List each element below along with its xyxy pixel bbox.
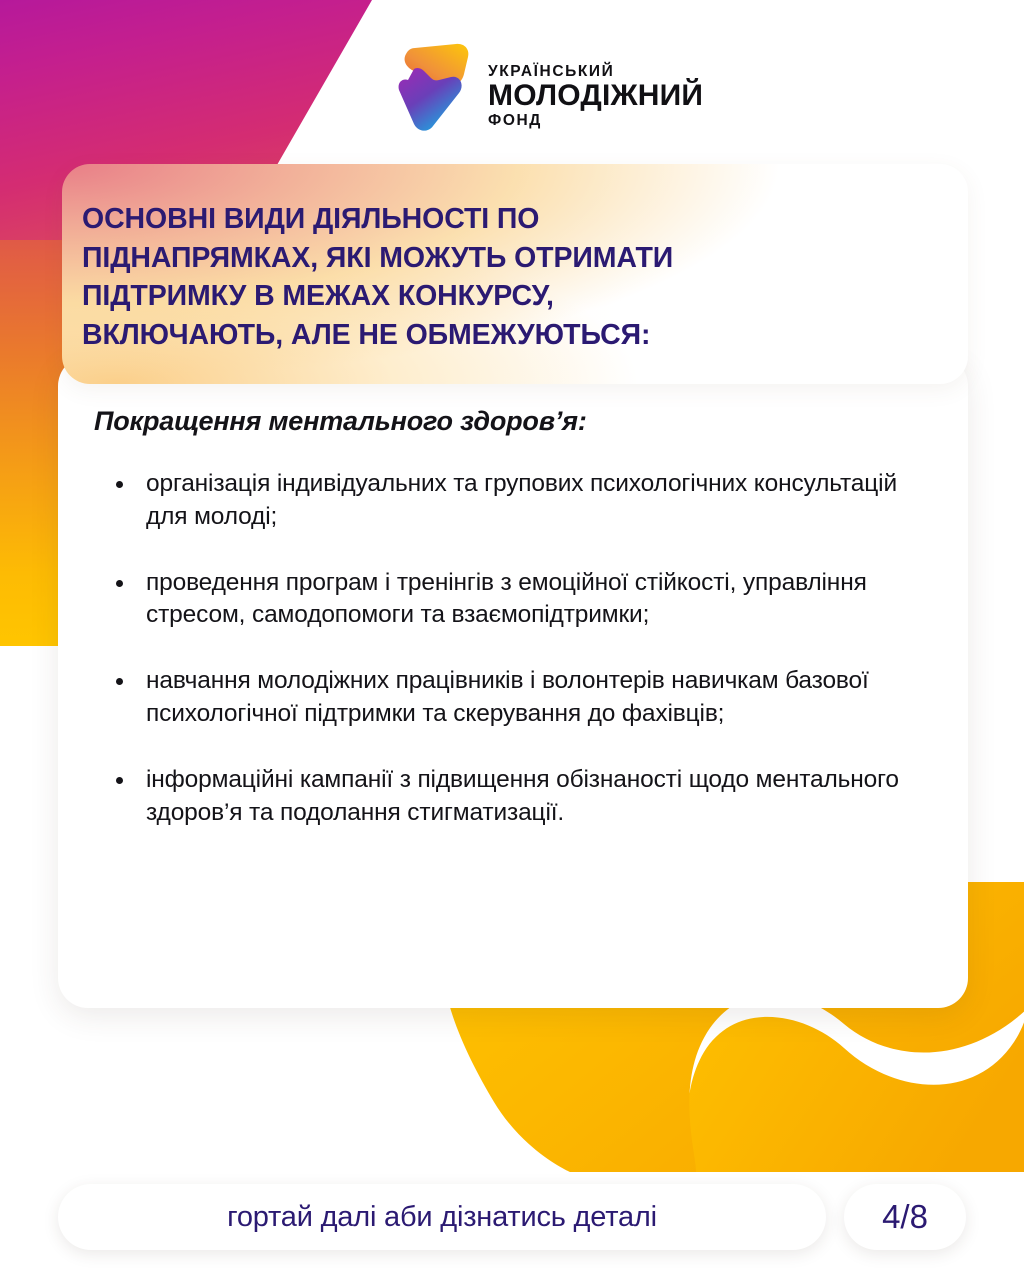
logo-line-3: ФОНД: [488, 113, 703, 129]
bullet-dot-icon: [116, 481, 123, 488]
list-item-text: організація індивідуальних та групових п…: [146, 470, 897, 530]
bullet-dot-icon: [116, 777, 123, 784]
footer-bar: гортай далі аби дізнатись деталі 4/8: [58, 1184, 966, 1250]
bullet-dot-icon: [116, 678, 123, 685]
list-item-text: навчання молодіжних працівників і волонт…: [146, 667, 869, 727]
list-item: організація індивідуальних та групових п…: [106, 468, 934, 534]
section-subheading: Покращення ментального здоров’я:: [94, 406, 587, 437]
content-card: Покращення ментального здоров’я: організ…: [58, 356, 968, 1008]
brand-logo: УКРАЇНСЬКИЙ МОЛОДІЖНИЙ ФОНД: [396, 40, 703, 132]
title-card: ОСНОВНІ ВИДИ ДІЯЛЬНОСТІ ПО ПІДНАПРЯМКАХ,…: [62, 164, 968, 384]
list-item: проведення програм і тренінгів з емоційн…: [106, 567, 934, 633]
slide-canvas: УКРАЇНСЬКИЙ МОЛОДІЖНИЙ ФОНД ОСНОВНІ ВИДИ…: [0, 0, 1024, 1280]
logo-line-1: УКРАЇНСЬКИЙ: [488, 64, 703, 80]
brand-logo-text: УКРАЇНСЬКИЙ МОЛОДІЖНИЙ ФОНД: [488, 44, 703, 129]
logo-line-2: МОЛОДІЖНИЙ: [488, 81, 703, 111]
swipe-cta-button[interactable]: гортай далі аби дізнатись деталі: [58, 1184, 826, 1250]
page-title: ОСНОВНІ ВИДИ ДІЯЛЬНОСТІ ПО ПІДНАПРЯМКАХ,…: [82, 200, 944, 354]
ukrainian-youth-foundation-logo-icon: [396, 40, 474, 132]
list-item-text: проведення програм і тренінгів з емоційн…: [146, 569, 867, 629]
list-item: навчання молодіжних працівників і волонт…: [106, 665, 934, 731]
list-item-text: інформаційні кампанії з підвищення обізн…: [146, 766, 899, 826]
bullet-dot-icon: [116, 580, 123, 587]
list-item: інформаційні кампанії з підвищення обізн…: [106, 764, 934, 830]
activity-bullet-list: організація індивідуальних та групових п…: [106, 468, 934, 830]
page-indicator: 4/8: [844, 1184, 966, 1250]
